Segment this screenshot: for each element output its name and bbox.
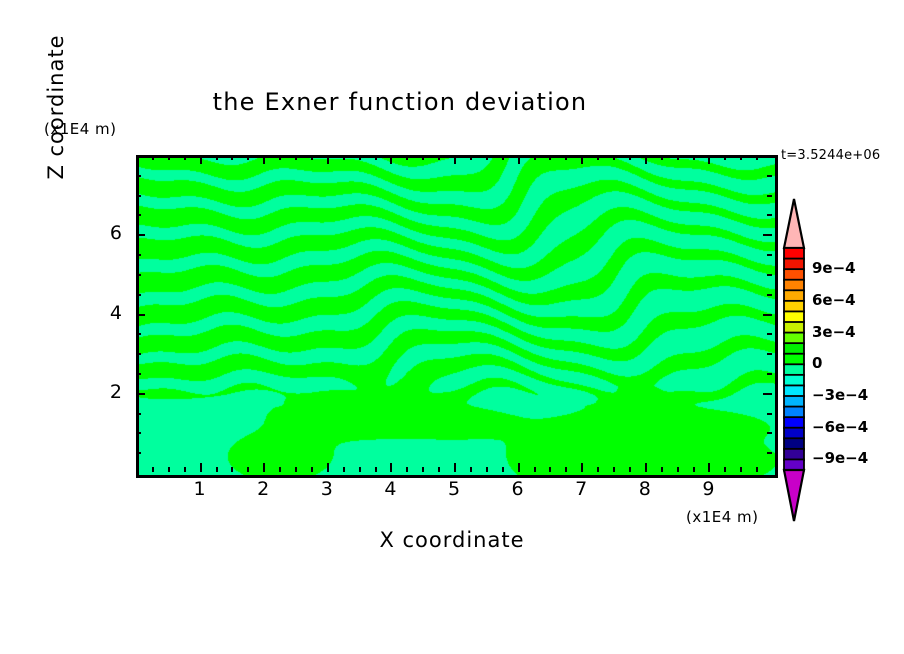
colorbar-tick-label: −6e−4 bbox=[812, 418, 868, 436]
tick-mark-y-right bbox=[767, 195, 772, 197]
tick-mark-x-top bbox=[645, 155, 647, 164]
tick-mark-y-right bbox=[763, 234, 772, 236]
tick-mark-x-bottom bbox=[661, 467, 663, 472]
tick-mark-x-top bbox=[231, 155, 233, 160]
colorbar-band bbox=[784, 396, 804, 407]
tick-mark-x-bottom bbox=[534, 467, 536, 472]
tick-mark-x-top bbox=[375, 155, 377, 160]
tick-mark-x-bottom bbox=[470, 467, 472, 472]
tick-mark-x-bottom bbox=[502, 467, 504, 472]
tick-mark-x-bottom bbox=[327, 463, 329, 472]
tick-mark-y-left bbox=[136, 373, 141, 375]
tick-mark-x-top bbox=[311, 155, 313, 160]
colorbar-tick-label: 6e−4 bbox=[812, 291, 856, 309]
tick-mark-x-bottom bbox=[184, 467, 186, 472]
tick-mark-x-top bbox=[534, 155, 536, 160]
tick-mark-x-bottom bbox=[597, 467, 599, 472]
tick-mark-y-left bbox=[136, 175, 141, 177]
tick-label-x: 8 bbox=[630, 478, 660, 500]
tick-mark-x-bottom bbox=[279, 467, 281, 472]
tick-mark-y-right bbox=[767, 432, 772, 434]
tick-mark-x-top bbox=[629, 155, 631, 160]
tick-mark-x-bottom bbox=[708, 463, 710, 472]
tick-mark-x-bottom bbox=[375, 467, 377, 472]
tick-mark-x-top bbox=[597, 155, 599, 160]
colorbar-band bbox=[784, 343, 804, 354]
tick-mark-y-right bbox=[767, 254, 772, 256]
colorbar-band bbox=[784, 407, 804, 418]
tick-mark-y-right bbox=[767, 452, 772, 454]
tick-mark-x-top bbox=[470, 155, 472, 160]
tick-mark-x-top bbox=[184, 155, 186, 160]
tick-mark-x-top bbox=[152, 155, 154, 160]
tick-label-y: 6 bbox=[92, 222, 122, 244]
tick-mark-x-top bbox=[661, 155, 663, 160]
tick-mark-x-bottom bbox=[454, 463, 456, 472]
tick-mark-x-bottom bbox=[168, 467, 170, 472]
colorbar bbox=[779, 198, 809, 522]
colorbar-band bbox=[784, 248, 804, 259]
tick-mark-x-top bbox=[200, 155, 202, 164]
tick-mark-y-left bbox=[136, 432, 141, 434]
tick-mark-x-top bbox=[756, 155, 758, 160]
tick-mark-x-top bbox=[359, 155, 361, 160]
tick-mark-y-right bbox=[763, 393, 772, 395]
tick-mark-x-top bbox=[613, 155, 615, 160]
colorbar-band bbox=[784, 311, 804, 322]
tick-mark-y-left bbox=[136, 314, 145, 316]
tick-label-x: 6 bbox=[503, 478, 533, 500]
tick-mark-x-top bbox=[343, 155, 345, 160]
tick-mark-y-left bbox=[136, 393, 145, 395]
y-axis-title: Z coordinate bbox=[44, 0, 68, 222]
x-axis-unit-label: (x1E4 m) bbox=[686, 508, 759, 526]
tick-mark-y-left bbox=[136, 274, 141, 276]
tick-mark-x-bottom bbox=[152, 467, 154, 472]
tick-mark-x-top bbox=[390, 155, 392, 164]
tick-mark-y-right bbox=[767, 274, 772, 276]
colorbar-cap-top bbox=[784, 199, 804, 248]
tick-mark-x-bottom bbox=[565, 467, 567, 472]
tick-mark-x-bottom bbox=[200, 463, 202, 472]
tick-mark-x-bottom bbox=[645, 463, 647, 472]
tick-mark-x-top bbox=[422, 155, 424, 160]
tick-mark-x-bottom bbox=[311, 467, 313, 472]
colorbar-band bbox=[784, 301, 804, 312]
tick-mark-x-top bbox=[565, 155, 567, 160]
colorbar-band bbox=[784, 449, 804, 460]
colorbar-tick-label: −9e−4 bbox=[812, 449, 868, 467]
tick-mark-y-right bbox=[767, 333, 772, 335]
tick-label-x: 7 bbox=[566, 478, 596, 500]
tick-mark-x-bottom bbox=[438, 467, 440, 472]
tick-mark-y-left bbox=[136, 294, 141, 296]
tick-mark-x-bottom bbox=[724, 467, 726, 472]
plot-area bbox=[136, 155, 778, 478]
colorbar-band bbox=[784, 354, 804, 365]
tick-label-y: 2 bbox=[92, 381, 122, 403]
colorbar-tick-label: 0 bbox=[812, 354, 822, 372]
tick-mark-x-bottom bbox=[263, 463, 265, 472]
tick-mark-x-top bbox=[216, 155, 218, 160]
tick-mark-x-bottom bbox=[216, 467, 218, 472]
colorbar-band bbox=[784, 269, 804, 280]
tick-mark-y-right bbox=[767, 353, 772, 355]
tick-mark-x-bottom bbox=[295, 467, 297, 472]
tick-mark-x-bottom bbox=[359, 467, 361, 472]
colorbar-tick-label: −3e−4 bbox=[812, 386, 868, 404]
tick-mark-x-bottom bbox=[231, 467, 233, 472]
colorbar-band bbox=[784, 364, 804, 375]
tick-mark-y-right bbox=[767, 175, 772, 177]
colorbar-band bbox=[784, 385, 804, 396]
contour-plot-figure: the Exner function deviation (x1E4 m) (x… bbox=[0, 0, 904, 654]
tick-mark-x-top bbox=[327, 155, 329, 164]
tick-mark-x-top bbox=[454, 155, 456, 164]
colorbar-band bbox=[784, 280, 804, 291]
tick-mark-x-top bbox=[502, 155, 504, 160]
tick-mark-x-bottom bbox=[693, 467, 695, 472]
tick-mark-y-left bbox=[136, 452, 141, 454]
tick-label-x: 4 bbox=[375, 478, 405, 500]
tick-mark-x-bottom bbox=[613, 467, 615, 472]
tick-mark-x-top bbox=[279, 155, 281, 160]
contour-field-canvas bbox=[139, 158, 775, 475]
tick-label-y: 4 bbox=[92, 302, 122, 324]
tick-mark-y-left bbox=[136, 333, 141, 335]
tick-mark-y-right bbox=[767, 214, 772, 216]
tick-mark-x-bottom bbox=[390, 463, 392, 472]
tick-mark-x-top bbox=[549, 155, 551, 160]
tick-mark-x-top bbox=[295, 155, 297, 160]
x-axis-title: X coordinate bbox=[336, 528, 568, 552]
tick-mark-x-bottom bbox=[486, 467, 488, 472]
tick-mark-y-left bbox=[136, 195, 141, 197]
colorbar-cap-bottom bbox=[784, 470, 804, 521]
tick-mark-x-top bbox=[263, 155, 265, 164]
colorbar-band bbox=[784, 333, 804, 344]
time-stamp-label: t=3.5244e+06 bbox=[781, 148, 880, 163]
colorbar-band bbox=[784, 375, 804, 386]
tick-label-x: 2 bbox=[248, 478, 278, 500]
tick-mark-x-top bbox=[518, 155, 520, 164]
colorbar-band bbox=[784, 417, 804, 428]
colorbar-tick-label: 9e−4 bbox=[812, 259, 856, 277]
colorbar-band bbox=[784, 259, 804, 270]
colorbar-swatches bbox=[779, 198, 809, 522]
tick-mark-x-top bbox=[406, 155, 408, 160]
tick-mark-x-top bbox=[168, 155, 170, 160]
tick-mark-x-bottom bbox=[581, 463, 583, 472]
tick-mark-x-top bbox=[438, 155, 440, 160]
tick-mark-x-bottom bbox=[756, 467, 758, 472]
tick-mark-x-top bbox=[724, 155, 726, 160]
tick-mark-x-bottom bbox=[518, 463, 520, 472]
colorbar-band bbox=[784, 290, 804, 301]
page-title: the Exner function deviation bbox=[0, 88, 800, 116]
tick-mark-x-bottom bbox=[406, 467, 408, 472]
tick-label-x: 9 bbox=[693, 478, 723, 500]
tick-mark-y-right bbox=[763, 314, 772, 316]
tick-label-x: 1 bbox=[185, 478, 215, 500]
tick-mark-y-right bbox=[767, 413, 772, 415]
tick-mark-y-left bbox=[136, 234, 145, 236]
tick-mark-x-top bbox=[486, 155, 488, 160]
tick-mark-x-bottom bbox=[629, 467, 631, 472]
tick-mark-y-left bbox=[136, 214, 141, 216]
tick-mark-y-right bbox=[767, 294, 772, 296]
tick-mark-x-bottom bbox=[549, 467, 551, 472]
tick-mark-x-bottom bbox=[740, 467, 742, 472]
colorbar-band bbox=[784, 428, 804, 439]
colorbar-band bbox=[784, 438, 804, 449]
tick-mark-x-top bbox=[247, 155, 249, 160]
tick-mark-x-top bbox=[740, 155, 742, 160]
tick-mark-x-top bbox=[677, 155, 679, 160]
tick-mark-x-bottom bbox=[247, 467, 249, 472]
tick-mark-x-top bbox=[693, 155, 695, 160]
tick-mark-y-left bbox=[136, 254, 141, 256]
tick-mark-y-left bbox=[136, 353, 141, 355]
tick-label-x: 5 bbox=[439, 478, 469, 500]
tick-mark-x-bottom bbox=[422, 467, 424, 472]
tick-mark-x-top bbox=[708, 155, 710, 164]
tick-mark-x-bottom bbox=[677, 467, 679, 472]
tick-label-x: 3 bbox=[312, 478, 342, 500]
colorbar-tick-label: 3e−4 bbox=[812, 323, 856, 341]
tick-mark-y-left bbox=[136, 413, 141, 415]
tick-mark-y-right bbox=[767, 373, 772, 375]
colorbar-band bbox=[784, 322, 804, 333]
tick-mark-x-bottom bbox=[343, 467, 345, 472]
tick-mark-x-top bbox=[581, 155, 583, 164]
